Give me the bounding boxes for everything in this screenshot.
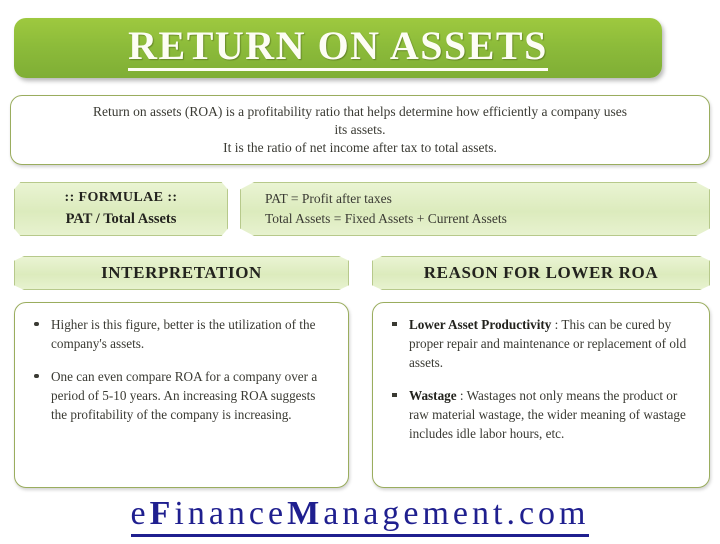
formulae-label: :: FORMULAE ::	[65, 188, 178, 208]
list-item-text: Higher is this figure, better is the uti…	[51, 317, 315, 351]
list-item: Higher is this figure, better is the uti…	[25, 315, 334, 353]
brand-part-f: F	[150, 495, 175, 532]
brand-part-anagement: anagement.com	[323, 495, 589, 532]
section-header-interpretation-label: INTERPRETATION	[101, 263, 262, 283]
interpretation-bullet-list: Higher is this figure, better is the uti…	[25, 315, 334, 424]
brand-part-inance: inance	[174, 495, 287, 532]
list-item-lead: Lower Asset Productivity	[409, 317, 551, 332]
description-line-2: its assets.	[334, 121, 385, 139]
formulae-definition-1: PAT = Profit after taxes	[265, 189, 392, 209]
section-header-reason-for-lower-roa: REASON FOR LOWER ROA	[372, 256, 710, 290]
description-line-1: Return on assets (ROA) is a profitabilit…	[93, 103, 627, 121]
footer: eFinanceManagement.com	[0, 495, 720, 537]
formulae-definitions-box: PAT = Profit after taxes Total Assets = …	[240, 182, 710, 236]
section-header-reason-label: REASON FOR LOWER ROA	[424, 263, 658, 283]
formulae-expression: PAT / Total Assets	[66, 209, 177, 230]
reason-bullet-list: Lower Asset Productivity : This can be c…	[383, 315, 695, 443]
formulae-definition-2: Total Assets = Fixed Assets + Current As…	[265, 209, 507, 229]
list-item-lead: Wastage	[409, 388, 457, 403]
list-item: Wastage : Wastages not only means the pr…	[383, 386, 695, 443]
list-item: Lower Asset Productivity : This can be c…	[383, 315, 695, 372]
page-title: RETURN ON ASSETS	[128, 25, 548, 71]
description-box: Return on assets (ROA) is a profitabilit…	[10, 95, 710, 165]
brand-wordmark[interactable]: eFinanceManagement.com	[131, 495, 590, 537]
section-header-interpretation: INTERPRETATION	[14, 256, 349, 290]
list-item-text: One can even compare ROA for a company o…	[51, 369, 317, 422]
reason-content-box: Lower Asset Productivity : This can be c…	[372, 302, 710, 488]
list-item: One can even compare ROA for a company o…	[25, 367, 334, 424]
brand-part-e: e	[131, 495, 150, 532]
description-line-3: It is the ratio of net income after tax …	[223, 139, 497, 157]
brand-part-m: M	[287, 495, 323, 532]
formulae-label-box: :: FORMULAE :: PAT / Total Assets	[14, 182, 228, 236]
interpretation-content-box: Higher is this figure, better is the uti…	[14, 302, 349, 488]
title-banner: RETURN ON ASSETS	[14, 18, 662, 78]
